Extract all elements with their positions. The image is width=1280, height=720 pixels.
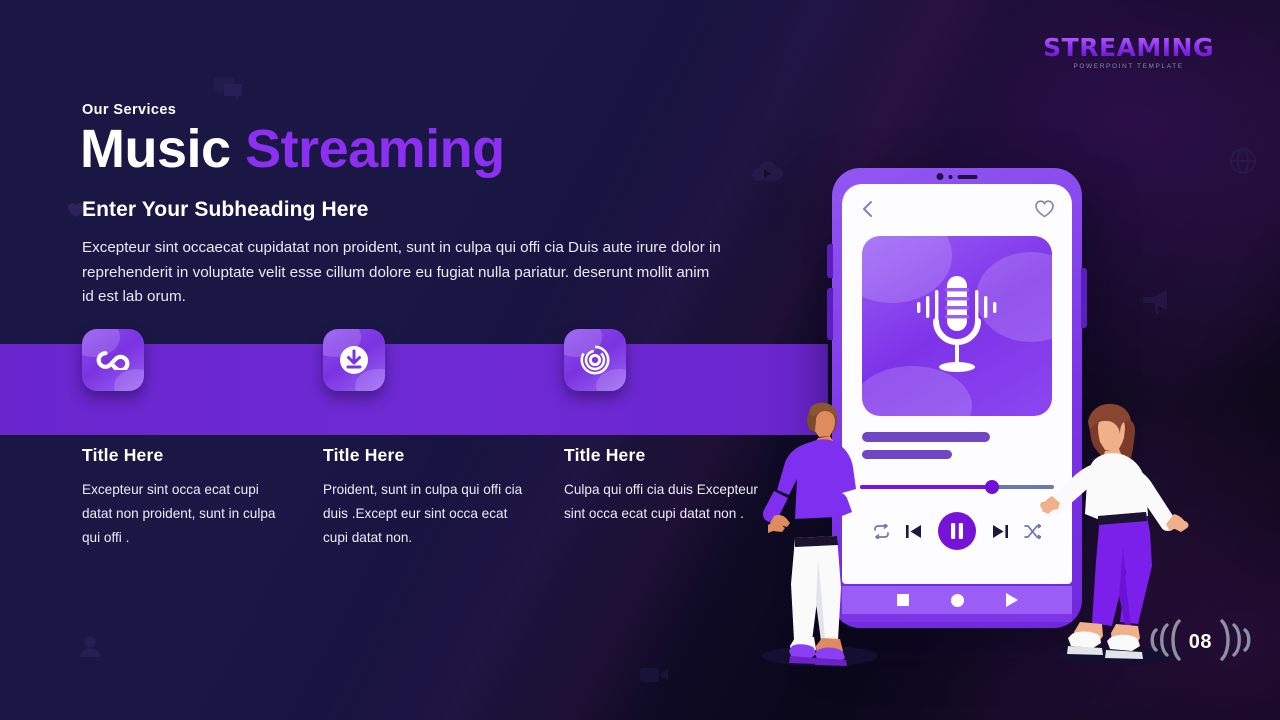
feature-text: Proident, sunt in culpa qui offi cia dui…: [323, 478, 533, 551]
page-title: Music Streaming: [80, 120, 505, 178]
sound-wave-right-icon: [1218, 617, 1252, 668]
feature-icon-row: [0, 344, 828, 435]
person-icon: [80, 636, 100, 657]
feature-icon-infinity[interactable]: [82, 329, 144, 391]
circle-icon[interactable]: [951, 594, 964, 607]
screen-top-bar: [842, 184, 1072, 234]
next-track-icon[interactable]: [992, 524, 1008, 539]
feature-column: Title Here Excepteur sint occa ecat cupi…: [82, 445, 292, 551]
brand-name: STREAMING: [1043, 33, 1214, 62]
download-icon: [323, 329, 385, 391]
globe-icon: [1230, 148, 1256, 174]
album-art: [862, 236, 1052, 416]
shuffle-icon[interactable]: [1024, 524, 1041, 539]
chevron-left-icon[interactable]: [860, 199, 875, 219]
previous-track-icon[interactable]: [906, 524, 922, 539]
feature-column: Title Here Culpa qui offi cia duis Excep…: [564, 445, 774, 526]
feature-text: Excepteur sint occa ecat cupi datat non …: [82, 478, 292, 551]
megaphone-icon: [1143, 288, 1175, 314]
progress-knob: [985, 480, 999, 494]
infinity-icon: [82, 329, 144, 391]
phone-side-button: [827, 288, 833, 340]
pause-icon: [950, 523, 964, 539]
title-word-accent: Streaming: [245, 119, 505, 179]
feature-icon-target[interactable]: [564, 329, 626, 391]
feature-icon-download[interactable]: [323, 329, 385, 391]
page-number: 08: [1189, 631, 1212, 654]
feature-text: Culpa qui offi cia duis Excepteur sint o…: [564, 478, 774, 526]
phone-side-button: [1081, 268, 1087, 328]
eyebrow-label: Our Services: [82, 102, 176, 118]
phone-notch: [937, 173, 978, 180]
page-number-badge: 08: [1149, 617, 1252, 668]
title-word-primary: Music: [80, 119, 231, 179]
sound-wave-left-icon: [1149, 617, 1183, 668]
heart-outline-icon[interactable]: [1035, 200, 1054, 218]
brand-subtitle: POWERPOINT TEMPLATE: [1043, 63, 1214, 70]
slide-canvas: STREAMING POWERPOINT TEMPLATE Our Servic…: [0, 0, 1280, 720]
cloud-play-icon: [748, 155, 784, 183]
feature-title: Title Here: [323, 445, 533, 466]
pause-button[interactable]: [938, 512, 976, 550]
progress-slider[interactable]: [860, 480, 1054, 494]
feature-title: Title Here: [564, 445, 774, 466]
target-icon: [564, 329, 626, 391]
feature-column: Title Here Proident, sunt in culpa qui o…: [323, 445, 533, 551]
phone-side-button: [827, 244, 833, 278]
feature-title: Title Here: [82, 445, 292, 466]
chat-bubble-icon: [213, 76, 243, 102]
character-left-illustration: [748, 398, 883, 668]
body-paragraph: Excepteur sint occaecat cupidatat non pr…: [82, 236, 722, 310]
triangle-play-icon[interactable]: [1006, 593, 1018, 607]
square-icon[interactable]: [897, 594, 909, 606]
microphone-icon: [862, 236, 1052, 416]
subheading: Enter Your Subheading Here: [82, 198, 369, 222]
brand-logo: STREAMING POWERPOINT TEMPLATE: [1043, 33, 1214, 70]
video-camera-icon: [640, 666, 668, 684]
